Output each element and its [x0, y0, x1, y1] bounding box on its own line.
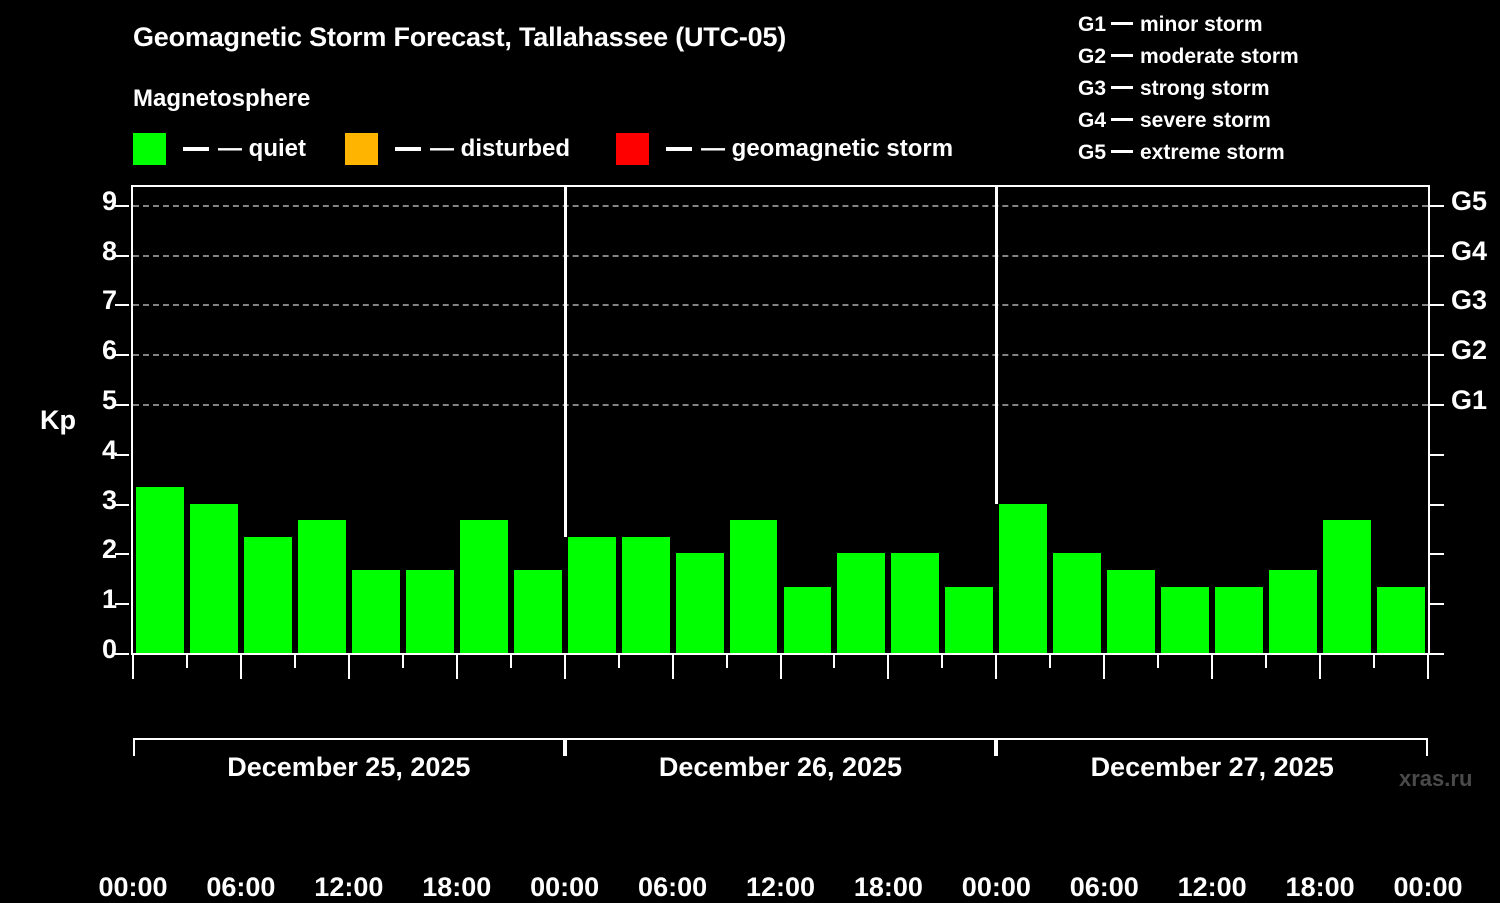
bar [406, 570, 454, 653]
x-tick-7 [510, 655, 512, 668]
plot-area: 0123456789 G1G2G3G4G5 00:0006:0012:0018:… [131, 185, 1430, 655]
em-dash-icon [1111, 54, 1133, 57]
x-tick-6 [456, 655, 458, 679]
legend-item-disturbed: — disturbed [345, 133, 570, 165]
y-tick-8 [115, 255, 129, 257]
plot-border-top [131, 185, 1430, 187]
bar [999, 504, 1047, 653]
legend-dash-icon [395, 147, 421, 151]
y-tick-6 [115, 354, 129, 356]
y-tick-label-4: 4 [57, 437, 117, 464]
gridline-kp-9 [133, 205, 1428, 207]
y-tick-label-1: 1 [57, 586, 117, 613]
y-axis-title: Kp [40, 405, 76, 436]
g-scale-row-g1: G1minor storm [1078, 14, 1299, 35]
right-tick-4 [1430, 454, 1444, 456]
x-tick-13 [833, 655, 835, 668]
g-scale-legend: G1minor stormG2moderate stormG3strong st… [1078, 14, 1299, 174]
g-desc: moderate storm [1140, 45, 1299, 68]
x-tick-23 [1373, 655, 1375, 668]
y-tick-0 [115, 653, 129, 655]
bar [1377, 587, 1425, 653]
right-axis-label-g4: G4 [1451, 238, 1487, 265]
x-tick-24 [1427, 655, 1429, 679]
day-label-3: December 27, 2025 [992, 752, 1432, 783]
em-dash-icon [1111, 22, 1133, 25]
y-tick-label-9: 9 [57, 188, 117, 215]
y-tick-label-2: 2 [57, 536, 117, 563]
x-tick-17 [1049, 655, 1051, 668]
legend-dash-icon [183, 147, 209, 151]
y-tick-1 [115, 603, 129, 605]
y-tick-5 [115, 404, 129, 406]
g-code: G4 [1078, 110, 1109, 131]
x-tick-20 [1211, 655, 1213, 679]
x-tick-2 [240, 655, 242, 679]
bar [622, 537, 670, 653]
bar [352, 570, 400, 653]
x-tick-14 [887, 655, 889, 679]
x-tick-12 [780, 655, 782, 679]
g-scale-row-g4: G4severe storm [1078, 110, 1299, 131]
day-label-2: December 26, 2025 [561, 752, 1001, 783]
g-desc: minor storm [1140, 13, 1263, 36]
x-tick-18 [1103, 655, 1105, 679]
g-scale-row-g2: G2moderate storm [1078, 46, 1299, 67]
legend-dash-icon [666, 147, 692, 151]
x-tick-0 [132, 655, 134, 679]
g-scale-row-g5: G5extreme storm [1078, 142, 1299, 163]
legend-label: — disturbed [430, 135, 570, 163]
y-tick-label-3: 3 [57, 487, 117, 514]
right-axis-label-g5: G5 [1451, 188, 1487, 215]
right-tick-9 [1430, 205, 1444, 207]
legend-label: — geomagnetic storm [701, 135, 953, 163]
bar [891, 553, 939, 653]
day-bracket-2 [565, 738, 997, 740]
y-tick-label-6: 6 [57, 337, 117, 364]
page-title: Geomagnetic Storm Forecast, Tallahassee … [133, 22, 786, 53]
bar [136, 487, 184, 653]
bar [298, 520, 346, 653]
y-tick-9 [115, 205, 129, 207]
x-tick-5 [402, 655, 404, 668]
right-tick-2 [1430, 553, 1444, 555]
x-tick-10 [672, 655, 674, 679]
g-code: G5 [1078, 142, 1109, 163]
bar [190, 504, 238, 653]
day-separator-2 [995, 185, 998, 504]
bar [514, 570, 562, 653]
y-tick-label-0: 0 [57, 636, 117, 663]
x-tick-21 [1265, 655, 1267, 668]
day-label-1: December 25, 2025 [129, 752, 569, 783]
x-tick-3 [294, 655, 296, 668]
legend-label: — quiet [218, 135, 306, 163]
gridline-kp-8 [133, 255, 1428, 257]
x-tick-1 [186, 655, 188, 668]
bar [730, 520, 778, 653]
g-code: G3 [1078, 78, 1109, 99]
right-tick-6 [1430, 354, 1444, 356]
em-dash-icon [1111, 150, 1133, 153]
bar [1323, 520, 1371, 653]
legend-swatch-geomagnetic-storm-icon [616, 133, 649, 165]
legend-swatch-disturbed-icon [345, 133, 378, 165]
gridline-kp-7 [133, 304, 1428, 306]
bar [1269, 570, 1317, 653]
y-tick-3 [115, 504, 129, 506]
watermark: xras.ru [1399, 766, 1472, 792]
g-desc: severe storm [1140, 109, 1271, 132]
g-desc: extreme storm [1140, 141, 1285, 164]
bar [1107, 570, 1155, 653]
x-tick-8 [564, 655, 566, 679]
em-dash-icon [1111, 118, 1133, 121]
bar [1215, 587, 1263, 653]
bar [676, 553, 724, 653]
x-tick-9 [618, 655, 620, 668]
bar [1053, 553, 1101, 653]
legend-item-quiet: — quiet [133, 133, 306, 165]
g-desc: strong storm [1140, 77, 1270, 100]
gridline-kp-6 [133, 354, 1428, 356]
bar [568, 537, 616, 653]
x-tick-19 [1157, 655, 1159, 668]
x-tick-15 [941, 655, 943, 668]
right-axis-label-g2: G2 [1451, 337, 1487, 364]
right-tick-3 [1430, 504, 1444, 506]
em-dash-icon [1111, 86, 1133, 89]
g-code: G2 [1078, 46, 1109, 67]
right-tick-8 [1430, 255, 1444, 257]
day-bracket-1 [133, 738, 565, 740]
day-separator-1 [564, 185, 567, 537]
right-tick-7 [1430, 304, 1444, 306]
bar [945, 587, 993, 653]
right-tick-0 [1430, 653, 1444, 655]
bar [1161, 587, 1209, 653]
x-tick-22 [1319, 655, 1321, 679]
legend-swatch-quiet-icon [133, 133, 166, 165]
right-tick-1 [1430, 603, 1444, 605]
chart-root: Geomagnetic Storm Forecast, Tallahassee … [0, 0, 1500, 800]
y-tick-4 [115, 454, 129, 456]
y-tick-2 [115, 553, 129, 555]
bar [244, 537, 292, 653]
legend-item-geomagnetic-storm: — geomagnetic storm [616, 133, 953, 165]
right-axis-label-g1: G1 [1451, 387, 1487, 414]
y-tick-7 [115, 304, 129, 306]
y-tick-label-8: 8 [57, 238, 117, 265]
right-axis-label-g3: G3 [1451, 287, 1487, 314]
g-code: G1 [1078, 14, 1109, 35]
x-tick-16 [995, 655, 997, 679]
x-tick-11 [726, 655, 728, 668]
g-scale-row-g3: G3strong storm [1078, 78, 1299, 99]
subtitle: Magnetosphere [133, 85, 310, 113]
day-bracket-3 [996, 738, 1428, 740]
right-tick-5 [1430, 404, 1444, 406]
x-tick-label-12: 00:00 [1348, 872, 1500, 903]
y-tick-label-7: 7 [57, 287, 117, 314]
x-tick-4 [348, 655, 350, 679]
bar [837, 553, 885, 653]
bar [460, 520, 508, 653]
bar [784, 587, 832, 653]
gridline-kp-5 [133, 404, 1428, 406]
